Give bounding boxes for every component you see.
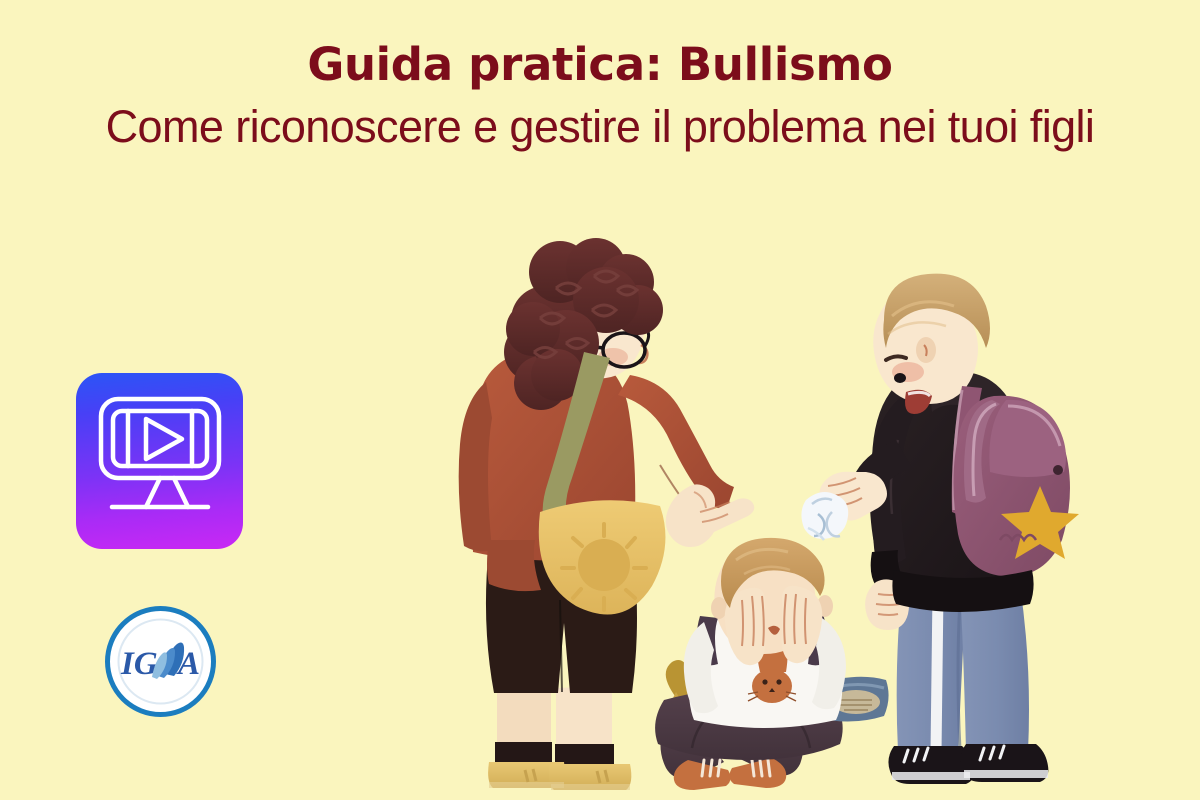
igea-logo[interactable]: IG A <box>104 604 217 719</box>
poster-canvas: Guida pratica: Bullismo Come riconoscere… <box>0 0 1200 800</box>
crumpled-paper-ball <box>801 492 848 540</box>
video-monitor-play-icon[interactable] <box>76 373 243 549</box>
character-victim-center <box>655 538 888 790</box>
